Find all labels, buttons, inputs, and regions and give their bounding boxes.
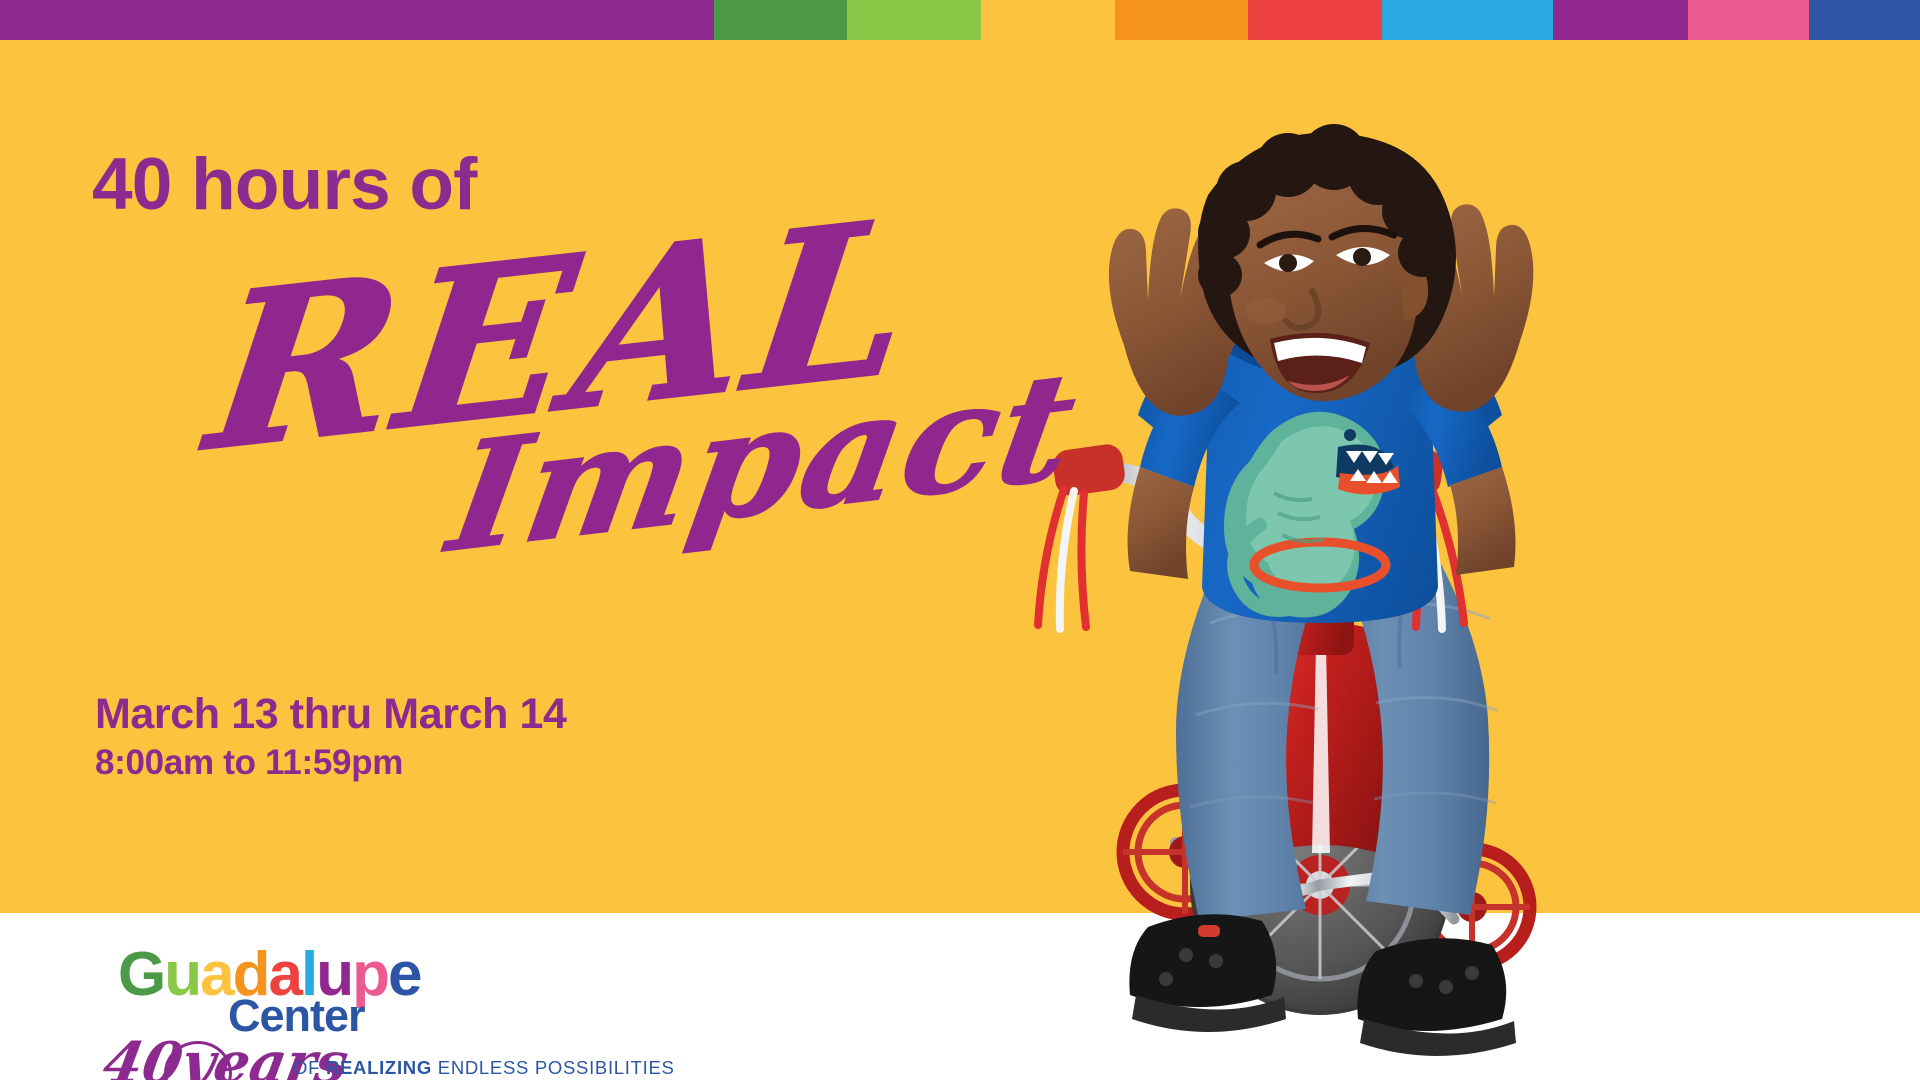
rainbow-top-bar bbox=[0, 0, 1920, 40]
headline-block: 40 hours of REAL Impact bbox=[92, 148, 1092, 547]
colorbar-segment-purple bbox=[0, 0, 714, 40]
colorbar-segment-navy-blue bbox=[1809, 0, 1920, 40]
logo-tagline-row: 40years OF REALIZING ENDLESS POSSIBILITI… bbox=[118, 1043, 548, 1080]
tagline-bold: REALIZING bbox=[326, 1057, 432, 1078]
script-wordmark: REAL Impact bbox=[92, 217, 952, 547]
colorbar-segment-light-green bbox=[847, 0, 981, 40]
colorbar-segment-orange bbox=[1115, 0, 1247, 40]
guadalupe-center-logo: Guadalupe Center 40years OF REALIZING EN… bbox=[118, 945, 548, 1080]
tagline-pre: OF bbox=[293, 1057, 326, 1078]
event-times: 8:00am to 11:59pm bbox=[95, 742, 567, 784]
colorbar-segment-dark-green bbox=[714, 0, 846, 40]
colorbar-segment-red bbox=[1248, 0, 1382, 40]
colorbar-segment-magenta bbox=[1553, 0, 1687, 40]
tagline-post: ENDLESS POSSIBILITIES bbox=[432, 1057, 675, 1078]
poster-canvas: RADIO FLYER bbox=[0, 0, 1920, 1080]
colorbar-segment-pink bbox=[1688, 0, 1809, 40]
event-date-block: March 13 thru March 14 8:00am to 11:59pm bbox=[95, 690, 567, 784]
event-dates: March 13 thru March 14 bbox=[95, 690, 567, 738]
shoe-right bbox=[1357, 938, 1516, 1056]
shoe-left bbox=[1129, 914, 1286, 1032]
colorbar-segment-cyan-blue bbox=[1382, 0, 1553, 40]
logo-tagline: OF REALIZING ENDLESS POSSIBILITIES bbox=[293, 1057, 675, 1079]
colorbar-segment-yellow bbox=[981, 0, 1115, 40]
child-on-tricycle-photo: RADIO FLYER bbox=[1020, 95, 1620, 1080]
